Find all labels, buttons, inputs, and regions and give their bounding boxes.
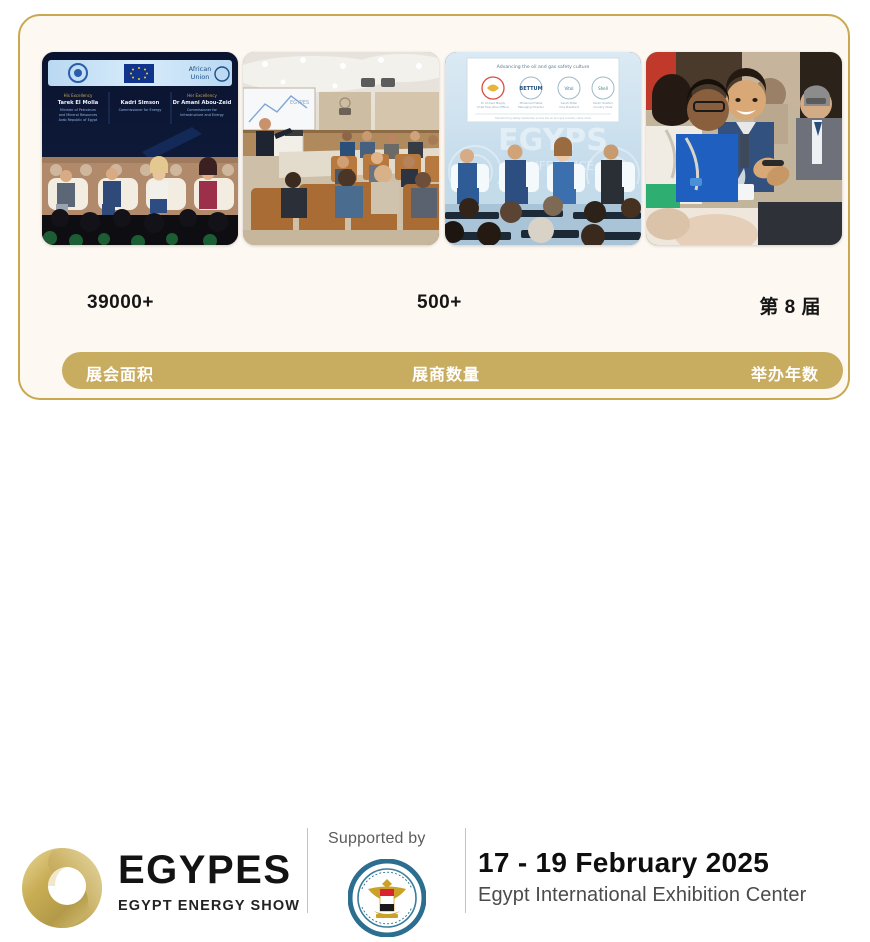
photo-panel-session-eu-african-union: African Union His Excellency Tarek El Mo…: [42, 52, 238, 245]
stat-label-2: 举办年数: [751, 361, 819, 385]
stat-label-0: 展会面积: [86, 361, 154, 385]
svg-text:Minister of Petroleum: Minister of Petroleum: [60, 108, 97, 112]
svg-text:Vitol: Vitol: [564, 86, 573, 91]
stats-card: African Union His Excellency Tarek El Mo…: [18, 14, 850, 400]
stat-labels-bar: 展会面积 展商数量 举办年数: [62, 352, 843, 389]
supported-by-caption: Supported by: [328, 830, 426, 848]
event-date-block: 17 - 19 February 2025 Egypt Internationa…: [478, 848, 806, 907]
svg-text:Kadri Simson: Kadri Simson: [121, 100, 160, 106]
svg-text:BETTUM: BETTUM: [519, 86, 542, 92]
svg-text:Commissioner for Energy: Commissioner for Energy: [119, 108, 162, 112]
svg-text:Infrastructure and Energy: Infrastructure and Energy: [180, 113, 224, 117]
svg-text:Managing Director: Managing Director: [518, 105, 545, 109]
footer-divider-1: [307, 828, 308, 913]
svg-text:Chief Executive Officer: Chief Executive Officer: [477, 105, 510, 109]
photo-delegates-applauding: [646, 52, 842, 245]
svg-text:Advancing the oil and gas safe: Advancing the oil and gas safety culture: [496, 64, 589, 70]
egypes-wordmark: EGYPES EGYPT ENERGY SHOW: [118, 850, 300, 914]
svg-text:Her Excellency: Her Excellency: [187, 93, 217, 98]
svg-text:Shell: Shell: [598, 86, 608, 91]
egypes-name: EGYPES: [118, 850, 300, 890]
event-footer: EGYPES EGYPT ENERGY SHOW Supported by 17…: [0, 404, 870, 553]
svg-text:Tarek El Molla: Tarek El Molla: [58, 100, 99, 106]
svg-text:Country Chair: Country Chair: [593, 105, 613, 109]
stat-label-1: 展商数量: [412, 361, 480, 385]
svg-text:African: African: [189, 65, 212, 73]
egypes-ring-logo-icon: [19, 844, 105, 932]
egypt-ministry-seal-icon: [348, 859, 426, 937]
egypes-tagline: EGYPT ENERGY SHOW: [118, 898, 300, 914]
photo-safety-culture-panel: Advancing the oil and gas safety culture…: [445, 52, 641, 245]
svg-text:Vice President: Vice President: [559, 105, 580, 109]
svg-text:Commissioner for: Commissioner for: [187, 108, 218, 112]
stat-value-1: 500+: [417, 292, 462, 314]
svg-text:Arab Republic of Egypt: Arab Republic of Egypt: [59, 118, 98, 122]
stat-values-row: 39000+ 500+ 第 8 届: [62, 292, 843, 320]
event-venue: Egypt International Exhibition Center: [478, 884, 806, 907]
footer-divider-2: [465, 828, 466, 913]
svg-text:and Mineral Resources: and Mineral Resources: [59, 113, 98, 117]
event-dates: 17 - 19 February 2025: [478, 848, 806, 879]
svg-text:Union: Union: [191, 73, 210, 81]
svg-text:EGYPES: EGYPES: [290, 100, 309, 106]
svg-text:His Excellency: His Excellency: [64, 93, 93, 98]
photo-gallery: African Union His Excellency Tarek El Mo…: [42, 52, 842, 245]
svg-text:Transforming safety leadership: Transforming safety leadership across th…: [494, 116, 591, 120]
stat-value-2: 第 8 届: [759, 292, 821, 319]
svg-text:Dr Amani Abou-Zeid: Dr Amani Abou-Zeid: [173, 100, 232, 106]
photo-auditorium-presentation: EGYPES: [243, 52, 439, 245]
stat-value-0: 39000+: [87, 292, 154, 314]
